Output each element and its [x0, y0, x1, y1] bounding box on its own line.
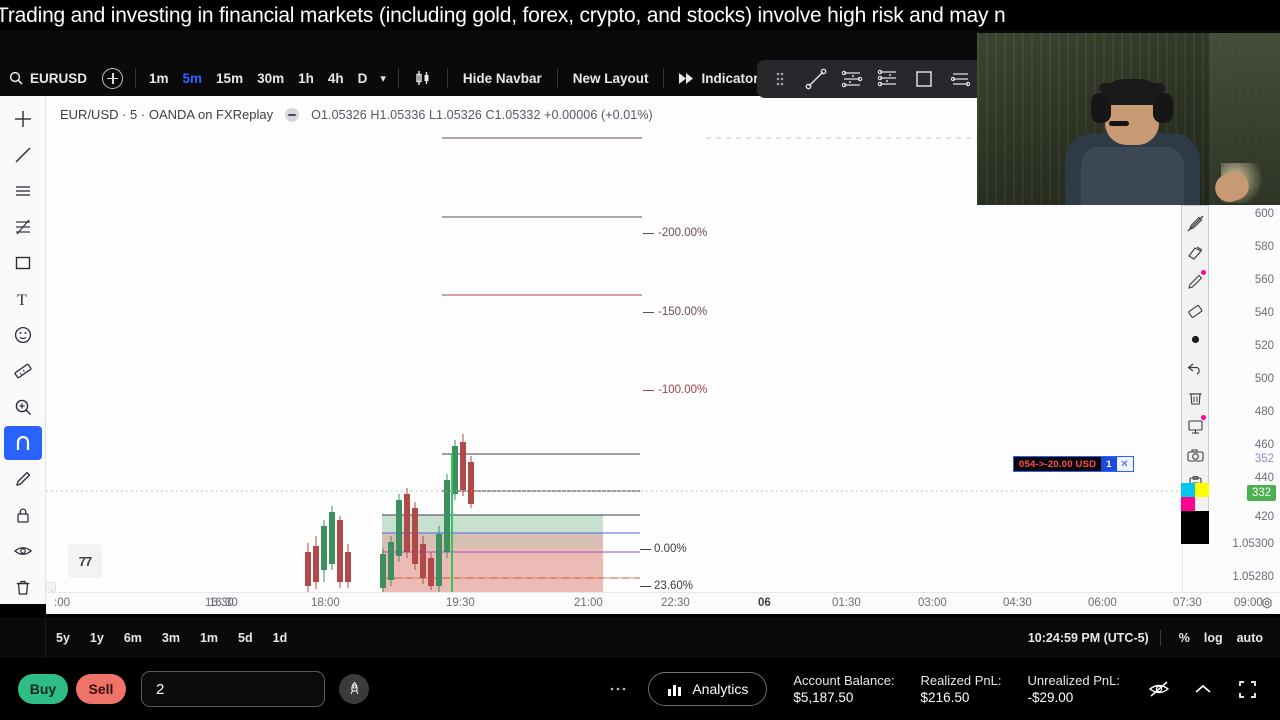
time-tick: 19:30 — [446, 597, 475, 609]
pen-color-magenta[interactable] — [1181, 497, 1195, 511]
time-tick: 03:00 — [918, 597, 947, 609]
crosshair-icon[interactable] — [4, 102, 42, 136]
price-tick: 580 — [1255, 241, 1274, 253]
range-5y[interactable]: 5y — [46, 631, 80, 645]
price-tick: 500 — [1255, 373, 1274, 385]
fib-label-n100: -100.00% — [658, 384, 707, 396]
pencil-icon[interactable] — [1182, 267, 1208, 295]
price-tick: 420 — [1255, 511, 1274, 523]
whiteboard-icon[interactable] — [1182, 412, 1208, 440]
fib-tick — [640, 549, 651, 550]
fullscreen-icon[interactable] — [1232, 674, 1262, 704]
fib-label-236: 23.60% — [654, 580, 693, 592]
symbol-label: EURUSD — [30, 71, 87, 86]
timeframe-4h[interactable]: 4h — [321, 71, 351, 86]
drag-handle-icon[interactable] — [763, 62, 797, 96]
divider — [447, 68, 448, 88]
pen-color-black[interactable] — [1181, 511, 1209, 544]
price-tick-order: 352 — [1255, 453, 1274, 465]
rectangle-icon[interactable] — [907, 62, 941, 96]
timeframe-30m[interactable]: 30m — [250, 71, 291, 86]
candlestick-icon — [414, 69, 432, 87]
emoji-icon[interactable] — [4, 318, 42, 352]
price-tick: 560 — [1255, 274, 1274, 286]
pencil-icon[interactable] — [4, 462, 42, 496]
fib-label-0: 0.00% — [654, 543, 687, 555]
dot-icon[interactable] — [1182, 325, 1208, 353]
time-tick: 04:30 — [1003, 597, 1032, 609]
fib-tick — [643, 233, 654, 234]
undo-icon[interactable] — [1182, 354, 1208, 382]
time-tick-1630: 16:30 — [209, 597, 238, 609]
chart-type-button[interactable] — [405, 60, 441, 96]
quantity-input[interactable] — [141, 671, 325, 707]
price-tick: 1.05280 — [1232, 571, 1274, 583]
bar-chart-icon — [667, 682, 683, 697]
price-tick: 600 — [1255, 208, 1274, 220]
timeframe-15m[interactable]: 15m — [209, 71, 250, 86]
fib-retracement-icon[interactable] — [4, 210, 42, 244]
timeframe-1h[interactable]: 1h — [291, 71, 321, 86]
disclaimer-text: Trading and investing in financial marke… — [0, 0, 1005, 31]
trash-icon[interactable] — [4, 570, 42, 604]
divider — [135, 68, 136, 88]
analytics-button[interactable]: Analytics — [648, 672, 767, 706]
price-tick: 1.05300 — [1232, 538, 1274, 550]
price-tick: 440 — [1255, 472, 1274, 484]
time-tick: 22:30 — [661, 597, 690, 609]
rectangle-icon[interactable] — [4, 246, 42, 280]
fib-tick — [640, 586, 651, 587]
fast-forward-icon — [679, 72, 694, 85]
time-tick: 09:00 — [1234, 597, 1263, 609]
fib-tick — [643, 390, 654, 391]
time-tick-day: 06 — [758, 597, 771, 609]
account-balance-label: Account Balance: — [793, 672, 894, 689]
new-layout-button[interactable]: New Layout — [564, 60, 658, 96]
fib-tick — [643, 312, 654, 313]
settings-gear-icon[interactable] — [1260, 597, 1274, 616]
account-balance-value: $5,187.50 — [793, 689, 894, 706]
horizontal-lines-icon[interactable] — [4, 174, 42, 208]
buy-button[interactable]: Buy — [18, 674, 68, 704]
time-tick: 01:30 — [832, 597, 861, 609]
range-footer: 5y 1y 6m 3m 1m 5d 1d 10:24:59 PM (UTC-5)… — [0, 618, 1280, 658]
pen-active-badge — [1201, 270, 1206, 275]
chart-clock: 10:24:59 PM (UTC-5) — [1028, 631, 1149, 645]
divider — [398, 68, 399, 88]
pen-color-cyan[interactable] — [1181, 483, 1195, 497]
zoom-in-icon[interactable] — [4, 390, 42, 424]
time-tick: 18:00 — [311, 597, 340, 609]
range-1m[interactable]: 1m — [190, 631, 228, 645]
eye-icon[interactable] — [4, 534, 42, 568]
unrealized-pnl-label: Unrealized PnL: — [1028, 672, 1121, 689]
disclaimer-ticker: Trading and investing in financial marke… — [0, 0, 1280, 31]
pen-disabled-icon[interactable] — [1182, 209, 1208, 237]
realized-pnl-stat: Realized PnL: $216.50 — [921, 672, 1002, 706]
webcam-overlay — [977, 33, 1280, 205]
fib-label-n150: -150.00% — [658, 306, 707, 318]
analytics-label: Analytics — [692, 681, 748, 697]
camera-icon[interactable] — [1182, 441, 1208, 469]
time-tick: 07:30 — [1173, 597, 1202, 609]
whiteboard-active-badge — [1201, 415, 1206, 420]
pen-color-yellow[interactable] — [1195, 483, 1209, 497]
price-tick: 520 — [1255, 340, 1274, 352]
webcam-headset-left — [1091, 93, 1111, 123]
magnet-icon[interactable] — [4, 426, 42, 460]
fib-retracement-icon[interactable] — [835, 62, 869, 96]
realized-pnl-label: Realized PnL: — [921, 672, 1002, 689]
trading-app-window: Trading and investing in financial marke… — [0, 0, 1280, 720]
search-icon — [9, 71, 23, 85]
range-5d[interactable]: 5d — [228, 631, 263, 645]
webcam-headset-mic — [1109, 121, 1129, 126]
time-tick: 21:00 — [574, 597, 603, 609]
symbol-search[interactable]: EURUSD — [0, 60, 96, 96]
position-pnl-label: 054->-20.00 USD — [1014, 457, 1101, 471]
text-tool-icon[interactable]: T — [4, 282, 42, 316]
unrealized-pnl-stat: Unrealized PnL: -$29.00 — [1028, 672, 1121, 706]
time-axis[interactable]: :00 16:30 16:30 18:00 19:30 21:00 22:30 … — [46, 592, 1280, 614]
position-qty[interactable]: 1 — [1101, 457, 1116, 471]
rocket-icon[interactable] — [339, 674, 369, 704]
scale-percent-toggle[interactable]: % — [1172, 631, 1197, 645]
trend-line-icon[interactable] — [799, 62, 833, 96]
svg-text:T: T — [17, 292, 27, 309]
highlighter-icon[interactable] — [1182, 238, 1208, 266]
time-tick: 06:00 — [1088, 597, 1117, 609]
footer-left-pad — [0, 618, 46, 658]
unrealized-pnl-value: -$29.00 — [1028, 689, 1121, 706]
timeframe-5m[interactable]: 5m — [176, 71, 210, 86]
webcam-shirt — [1081, 147, 1184, 205]
grip-dots-icon[interactable] — [610, 685, 626, 693]
trash-icon[interactable] — [1182, 383, 1208, 411]
range-1d[interactable]: 1d — [263, 631, 298, 645]
fib-extension-icon[interactable] — [871, 62, 905, 96]
trend-line-icon[interactable] — [4, 138, 42, 172]
webcam-headset-band — [1099, 83, 1165, 93]
time-tick: :00 — [54, 597, 70, 609]
sell-button[interactable]: Sell — [76, 674, 126, 704]
timeframe-1m[interactable]: 1m — [142, 71, 176, 86]
position-order-badge[interactable]: 054->-20.00 USD 1 ✕ — [1013, 456, 1134, 472]
trade-panel: Buy Sell Analytics Account Balance: $5,1… — [0, 658, 1280, 720]
webcam-person — [1065, 77, 1200, 205]
range-1y[interactable]: 1y — [80, 631, 114, 645]
scale-auto-toggle[interactable]: auto — [1230, 631, 1270, 645]
realized-pnl-value: $216.50 — [921, 689, 1002, 706]
divider — [1160, 630, 1161, 646]
scale-log-toggle[interactable]: log — [1197, 631, 1230, 645]
lock-icon[interactable] — [4, 498, 42, 532]
price-tick: 540 — [1255, 307, 1274, 319]
range-3m[interactable]: 3m — [152, 631, 190, 645]
range-6m[interactable]: 6m — [114, 631, 152, 645]
chevron-down-icon[interactable]: ▾ — [374, 72, 392, 85]
left-tool-rail: T — [0, 96, 46, 604]
account-balance-stat: Account Balance: $5,187.50 — [793, 672, 894, 706]
measure-ruler-icon[interactable] — [4, 354, 42, 388]
eye-off-icon[interactable] — [1144, 674, 1174, 704]
current-price-badge: 332 — [1247, 485, 1276, 501]
divider — [663, 68, 664, 88]
timeframe-d[interactable]: D — [351, 71, 375, 86]
price-tick: 460 — [1255, 439, 1274, 451]
chart-watermark: 77 — [68, 544, 102, 578]
fib-label-n200: -200.00% — [658, 227, 707, 239]
close-x-icon[interactable]: ✕ — [1117, 457, 1133, 471]
hide-navbar-button[interactable]: Hide Navbar — [454, 60, 551, 96]
parallel-channel-icon[interactable] — [943, 62, 977, 96]
add-symbol-button[interactable] — [102, 68, 123, 89]
divider — [557, 68, 558, 88]
webcam-headset-right — [1153, 93, 1173, 123]
chevron-up-icon[interactable] — [1188, 674, 1218, 704]
eraser-icon[interactable] — [1182, 296, 1208, 324]
price-tick: 480 — [1255, 406, 1274, 418]
